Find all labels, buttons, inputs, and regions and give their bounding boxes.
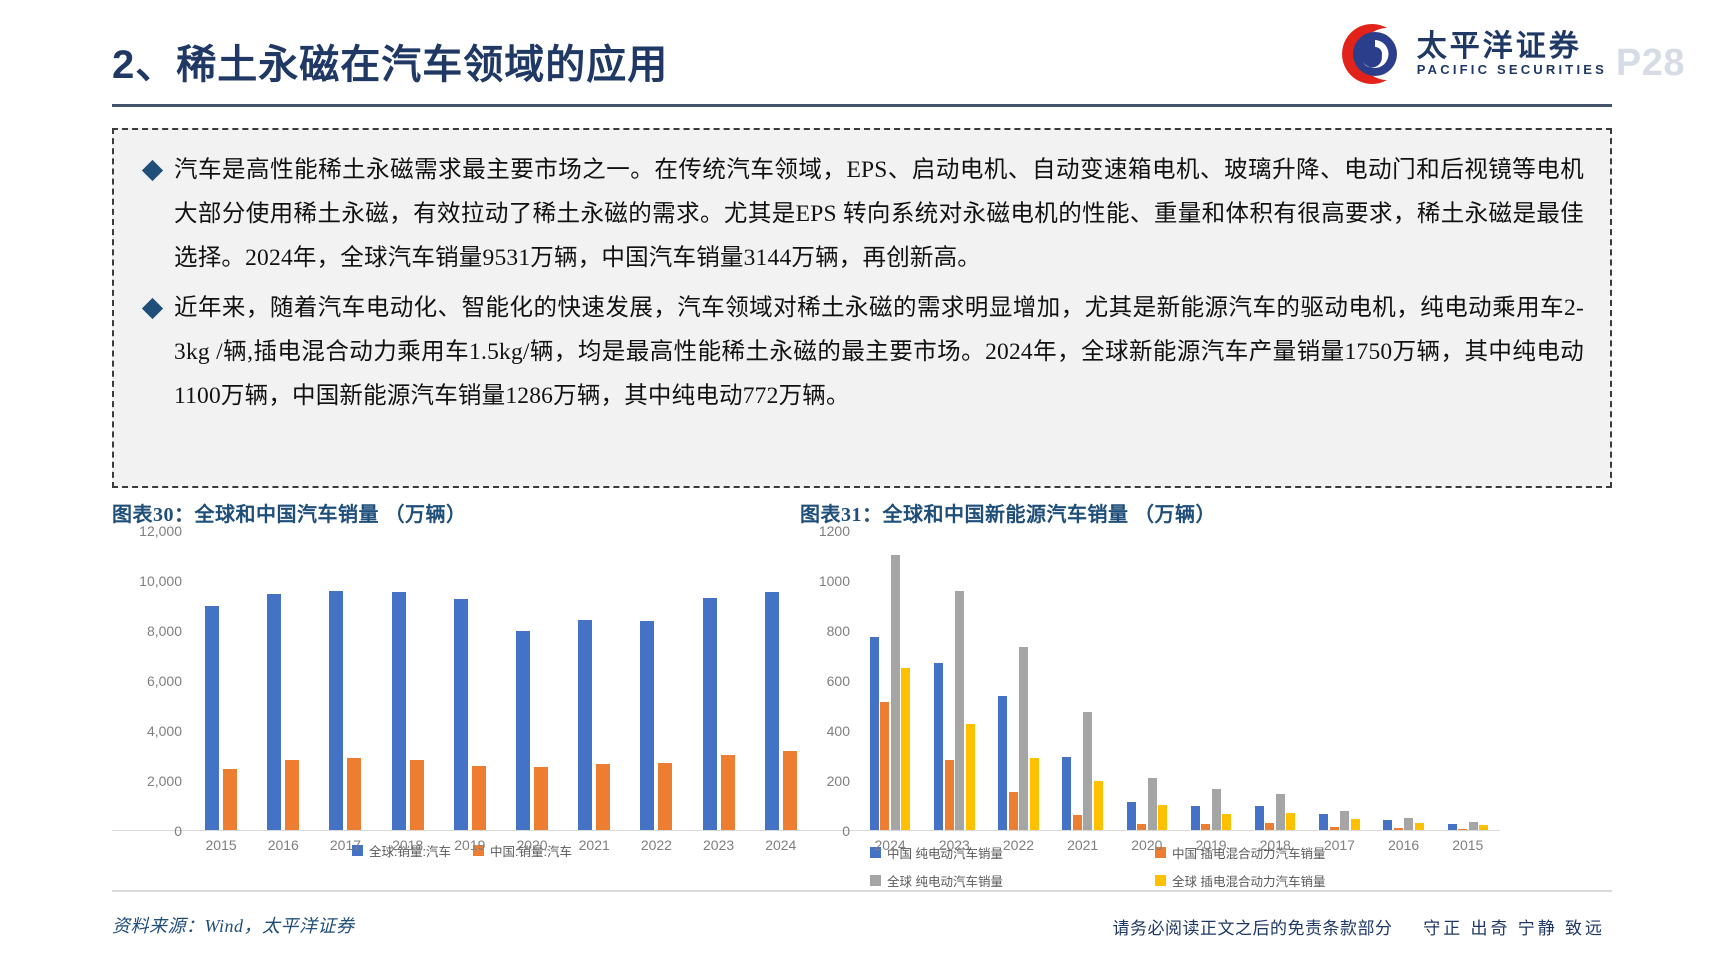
bar: [1404, 818, 1413, 830]
bar: [1148, 778, 1157, 831]
bar-group: [1191, 530, 1232, 830]
bar-group: [1255, 530, 1296, 830]
x-axis-tick-label: 2024: [862, 837, 918, 853]
bar: [1083, 712, 1092, 830]
bar: [1255, 806, 1264, 831]
bar: [1383, 820, 1392, 830]
bar: [596, 764, 610, 830]
bar: [658, 763, 672, 830]
bar: [347, 758, 361, 830]
company-slogan: 守正 出奇 宁静 致远: [1423, 919, 1605, 938]
bullet-text-1: 汽车是高性能稀土永磁需求最主要市场之一。在传统汽车领域，EPS、启动电机、自动变…: [174, 148, 1584, 280]
figure31-x-axis-labels: 2024202320222021202020192018201720162015: [800, 837, 1500, 853]
bullet-text-2: 近年来，随着汽车电动化、智能化的快速发展，汽车领域对稀土永磁的需求明显增加，尤其…: [174, 286, 1584, 418]
bar: [640, 621, 654, 830]
bar: [891, 555, 900, 830]
bar: [285, 760, 299, 830]
bar: [1201, 824, 1210, 830]
bar-group: [516, 530, 548, 830]
bar-group: [640, 530, 672, 830]
bar: [392, 592, 406, 830]
bar-group: [329, 530, 361, 830]
x-axis-tick-label: 2023: [691, 837, 747, 853]
bar: [955, 591, 964, 830]
bar: [1019, 647, 1028, 831]
diamond-bullet-icon: [142, 160, 163, 181]
logo-text-cn: 太平洋证券: [1417, 31, 1607, 63]
figure30-plot-area: 02,0004,0006,0008,00010,00012,000: [112, 531, 812, 831]
brand-logo: 太平洋证券 PACIFIC SECURITIES: [1335, 18, 1607, 90]
bar: [1137, 824, 1146, 830]
bar: [1276, 794, 1285, 831]
x-axis-tick-label: 2015: [1440, 837, 1496, 853]
bar: [1479, 825, 1488, 830]
bar: [998, 696, 1007, 830]
bar: [1351, 819, 1360, 830]
bar-group: [1383, 530, 1424, 830]
legend-label: 全球 纯电动汽车销量: [887, 871, 1003, 890]
bar: [1330, 827, 1339, 830]
bar: [1073, 815, 1082, 830]
page-number: P28: [1616, 42, 1685, 85]
bar-groups: [800, 530, 1500, 830]
bar-group: [703, 530, 735, 830]
bar: [1222, 814, 1231, 830]
bar-group: [392, 530, 424, 830]
bar: [1062, 757, 1071, 830]
bar: [934, 663, 943, 830]
x-axis-tick-label: 2022: [628, 837, 684, 853]
figure31-panel: 图表31：全球和中国新能源汽车销量 （万辆） 02004006008001000…: [800, 498, 1500, 858]
bar-group: [1127, 530, 1168, 830]
figure30-x-axis: [112, 830, 812, 831]
legend-swatch-icon: [870, 875, 881, 886]
bar-group: [578, 530, 610, 830]
bar: [1127, 802, 1136, 830]
x-axis-tick-label: 2020: [1119, 837, 1175, 853]
diamond-bullet-icon: [142, 298, 163, 319]
bar: [267, 594, 281, 830]
bar: [1265, 823, 1274, 830]
bar: [1212, 789, 1221, 830]
bar: [966, 724, 975, 830]
bar: [945, 760, 954, 830]
x-axis-tick-label: 2018: [380, 837, 436, 853]
x-axis-tick-label: 2021: [566, 837, 622, 853]
bar: [1448, 824, 1457, 830]
bar-group: [454, 530, 486, 830]
bar: [1458, 829, 1467, 831]
bar-group: [1062, 530, 1103, 830]
bar: [783, 751, 797, 830]
x-axis-tick-label: 2023: [926, 837, 982, 853]
bar: [1286, 813, 1295, 830]
bar: [534, 767, 548, 830]
bullet-item-1: 汽车是高性能稀土永磁需求最主要市场之一。在传统汽车领域，EPS、启动电机、自动变…: [140, 148, 1584, 280]
legend-item[interactable]: 全球 插电混合动力汽车销量: [1155, 871, 1430, 890]
bar-groups: [112, 530, 812, 830]
footer-right-block: 请务必阅读正文之后的免责条款部分 守正 出奇 宁静 致远: [1113, 914, 1606, 939]
bar: [516, 631, 530, 831]
bar: [410, 760, 424, 830]
bar: [223, 769, 237, 831]
bar: [870, 637, 879, 830]
disclaimer-text: 请务必阅读正文之后的免责条款部分: [1113, 919, 1393, 938]
x-axis-tick-label: 2020: [504, 837, 560, 853]
header-divider: [112, 104, 1612, 107]
bar: [765, 592, 779, 830]
figure30-caption: 图表30：全球和中国汽车销量 （万辆）: [112, 498, 812, 527]
bar: [205, 606, 219, 830]
logo-text-en: PACIFIC SECURITIES: [1417, 63, 1607, 77]
bar-group: [998, 530, 1039, 830]
bar: [1158, 805, 1167, 830]
bar-group: [1448, 530, 1489, 830]
page-header: 2、稀土永磁在汽车领域的应用 太平洋证券 PACIFIC SECURITIES …: [0, 0, 1715, 118]
bar-group: [205, 530, 237, 830]
x-axis-tick-label: 2021: [1055, 837, 1111, 853]
bar: [721, 755, 735, 830]
x-axis-tick-label: 2017: [1311, 837, 1367, 853]
x-axis-tick-label: 2018: [1247, 837, 1303, 853]
bar-group: [934, 530, 975, 830]
bar: [329, 591, 343, 830]
bar-group: [267, 530, 299, 830]
bullet-item-2: 近年来，随着汽车电动化、智能化的快速发展，汽车领域对稀土永磁的需求明显增加，尤其…: [140, 286, 1584, 418]
bar-group: [765, 530, 797, 830]
bar-group: [1319, 530, 1360, 830]
x-axis-tick-label: 2022: [990, 837, 1046, 853]
bar: [454, 599, 468, 830]
bar: [1469, 822, 1478, 830]
bar-group: [870, 530, 911, 830]
bar: [1340, 811, 1349, 831]
figure31-x-axis: [800, 830, 1500, 831]
figure31-caption: 图表31：全球和中国新能源汽车销量 （万辆）: [800, 498, 1500, 527]
figure30-panel: 图表30：全球和中国汽车销量 （万辆） 02,0004,0006,0008,00…: [112, 498, 812, 858]
bar: [703, 598, 717, 830]
page-title: 2、稀土永磁在汽车领域的应用: [112, 32, 668, 90]
bar: [472, 766, 486, 830]
x-axis-tick-label: 2019: [442, 837, 498, 853]
bar: [578, 620, 592, 830]
x-axis-tick-label: 2015: [193, 837, 249, 853]
legend-item[interactable]: 全球 纯电动汽车销量: [870, 871, 1145, 890]
footer-divider: [112, 890, 1612, 892]
legend-label: 全球 插电混合动力汽车销量: [1172, 871, 1325, 890]
x-axis-tick-label: 2019: [1183, 837, 1239, 853]
bar: [1030, 758, 1039, 831]
x-axis-tick-label: 2017: [317, 837, 373, 853]
pacific-securities-logo-icon: [1335, 18, 1407, 90]
source-note: 资料来源：Wind，太平洋证券: [112, 912, 355, 938]
bar: [1009, 792, 1018, 830]
bar: [880, 702, 889, 831]
x-axis-tick-label: 2016: [255, 837, 311, 853]
x-axis-tick-label: 2016: [1376, 837, 1432, 853]
bar: [1415, 823, 1424, 830]
bar: [901, 668, 910, 831]
legend-swatch-icon: [1155, 875, 1166, 886]
bar: [1094, 781, 1103, 830]
figure30-x-axis-labels: 2015201620172018201920202021202220232024: [112, 837, 812, 853]
bar: [1394, 828, 1403, 830]
content-callout-box: 汽车是高性能稀土永磁需求最主要市场之一。在传统汽车领域，EPS、启动电机、自动变…: [112, 128, 1612, 488]
bar: [1191, 806, 1200, 830]
figure31-plot-area: 020040060080010001200: [800, 531, 1500, 831]
bar: [1319, 814, 1328, 830]
